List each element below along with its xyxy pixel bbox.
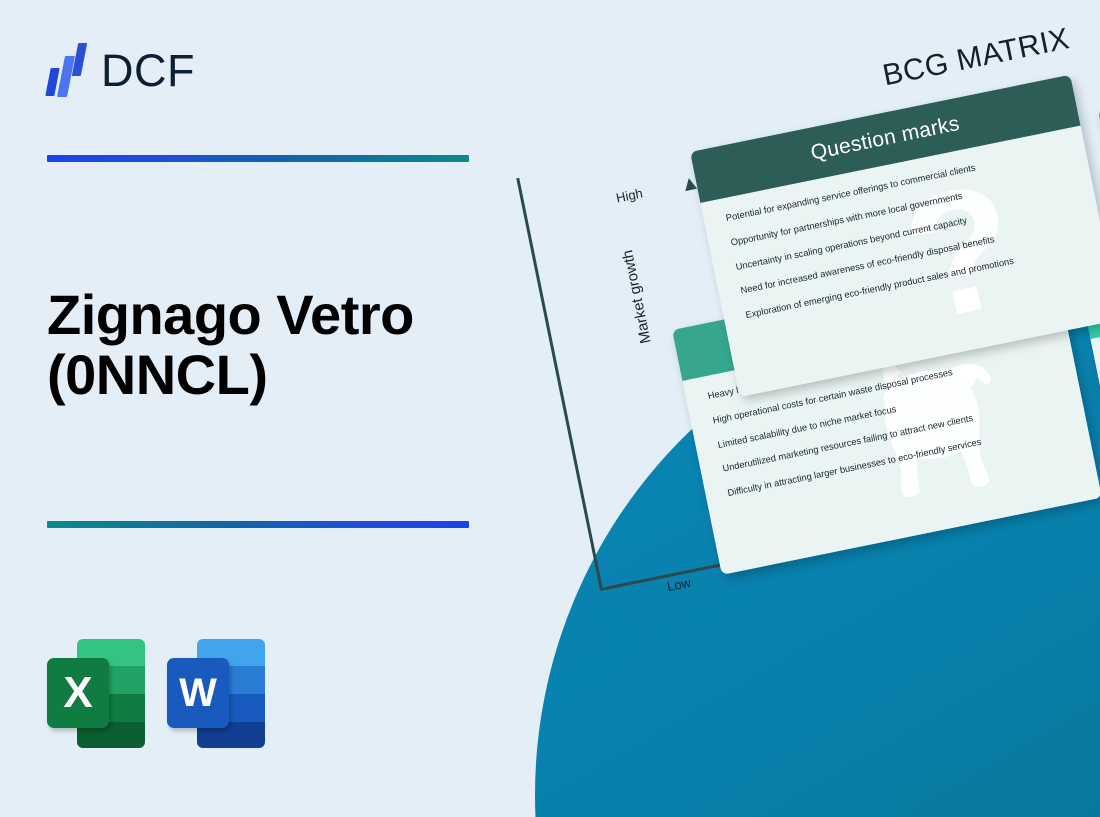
- excel-file-icon[interactable]: X: [47, 630, 145, 748]
- page-title: Zignago Vetro (0NNCL): [47, 285, 477, 406]
- word-letter: W: [167, 658, 229, 728]
- excel-letter: X: [47, 658, 109, 728]
- divider-bottom: [47, 521, 469, 528]
- y-axis-title: Market growth: [619, 248, 655, 345]
- title-panel: DCF Zignago Vetro (0NNCL) X W: [0, 0, 520, 817]
- bar-chart-logo-icon: [47, 42, 89, 98]
- download-format-icons: X W: [47, 630, 265, 748]
- slide-canvas: BCG MATRIX High Low Market growth Market…: [0, 0, 1100, 817]
- dcf-logo[interactable]: DCF: [47, 42, 195, 98]
- y-axis-high-label: High: [615, 185, 644, 205]
- logo-wordmark: DCF: [101, 48, 195, 93]
- word-file-icon[interactable]: W: [167, 630, 265, 748]
- divider-top: [47, 155, 469, 162]
- y-axis-low-label: Low: [666, 575, 692, 594]
- y-axis-line: [516, 178, 602, 590]
